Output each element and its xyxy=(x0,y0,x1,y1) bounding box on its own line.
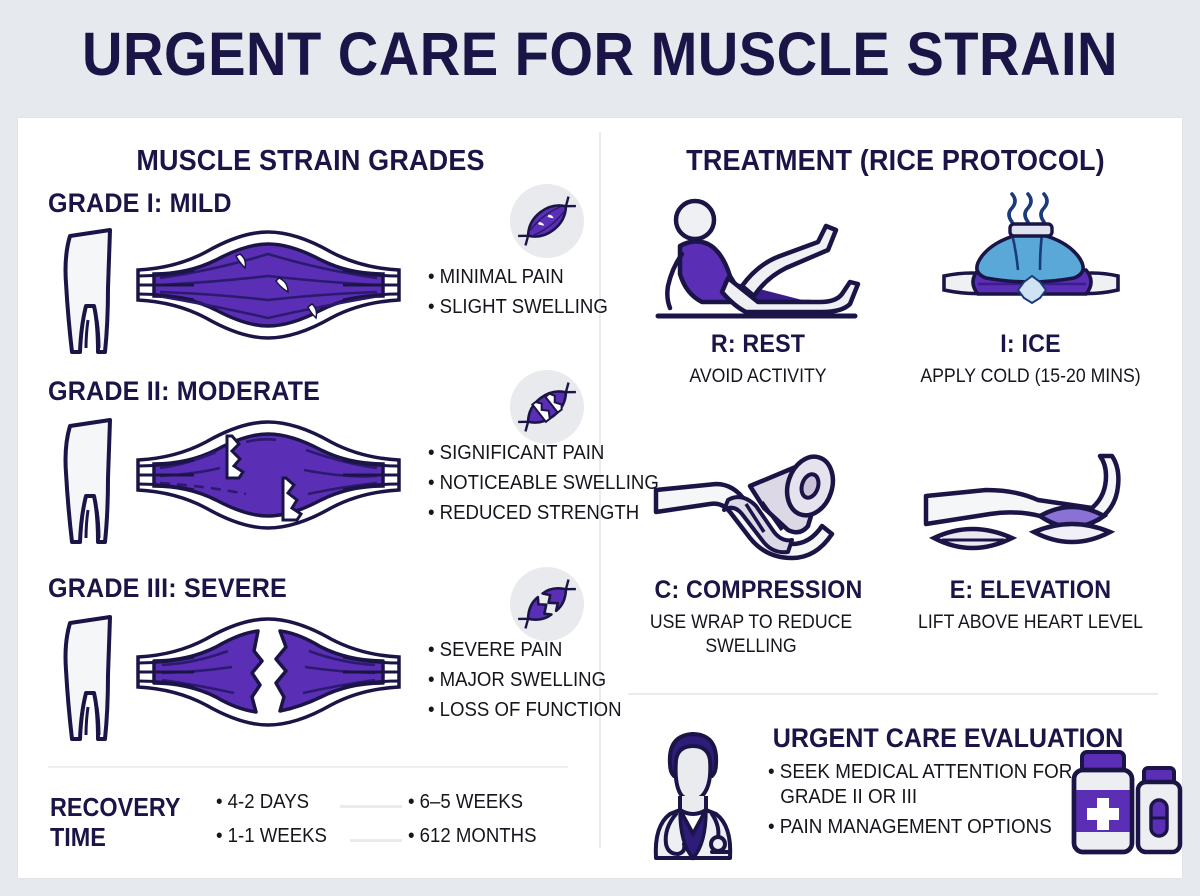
muscle-mild-icon xyxy=(510,184,584,258)
list-item: SEEK MEDICAL ATTENTION FOR GRADE II OR I… xyxy=(768,760,1078,810)
infographic-poster: URGENT CARE FOR MUSCLE STRAIN MUSCLE STR… xyxy=(0,0,1200,896)
resting-person-icon xyxy=(650,198,865,328)
grade-3-badge xyxy=(510,567,584,641)
list-item: REDUCED STRENGTH xyxy=(428,502,659,525)
rice-compression-title: C: COMPRESSION xyxy=(635,576,881,605)
recovery-time-grid: 4-2 DAYS 6–5 WEEKS 1-1 WEEKS 612 MONTHS xyxy=(216,791,591,859)
leg-silhouette-icon xyxy=(48,615,128,745)
list-item: SIGNIFICANT PAIN xyxy=(428,442,659,465)
content-card: MUSCLE STRAIN GRADES TREATMENT (RICE PRO… xyxy=(18,118,1182,878)
grade-3-symptoms: SEVERE PAIN MAJOR SWELLING LOSS OF FUNCT… xyxy=(428,639,636,729)
recovery-connector xyxy=(350,839,402,842)
left-column-heading: MUSCLE STRAIN GRADES xyxy=(57,145,564,178)
urgent-care-section: URGENT CARE EVALUATION SEEK MEDICAL ATTE… xyxy=(628,718,1168,868)
elevated-leg-pillow-icon xyxy=(920,454,1145,574)
rice-elevation-desc: LIFT ABOVE HEART LEVEL xyxy=(907,611,1153,635)
grade-2-badge xyxy=(510,370,584,444)
muscle-grade-2-icon xyxy=(136,420,401,530)
bandage-wrap-icon xyxy=(646,448,871,573)
recovery-item: 612 MONTHS xyxy=(408,825,536,848)
ice-pack-icon xyxy=(938,198,1123,328)
recovery-item: 6–5 WEEKS xyxy=(408,791,523,814)
grade-1-section: GRADE I: MILD xyxy=(48,188,598,368)
rice-step-rest: R: REST AVOID ACTIVITY xyxy=(628,198,888,388)
list-item: LOSS OF FUNCTION xyxy=(428,699,622,722)
recovery-row-2: 1-1 WEEKS 612 MONTHS xyxy=(216,825,591,859)
rice-ice-title: I: ICE xyxy=(907,330,1153,359)
list-item: PAIN MANAGEMENT OPTIONS xyxy=(768,815,1078,840)
recovery-row-1: 4-2 DAYS 6–5 WEEKS xyxy=(216,791,591,825)
muscle-grade-1-icon xyxy=(136,230,401,340)
rice-ice-desc: APPLY COLD (15-20 MINS) xyxy=(907,365,1153,389)
muscle-grade-3-icon xyxy=(136,617,401,727)
grade-3-section: GRADE III: SEVERE xyxy=(48,573,598,768)
rice-step-ice: I: ICE APPLY COLD (15-20 MINS) xyxy=(898,198,1163,388)
list-item: NOTICEABLE SWELLING xyxy=(428,472,659,495)
rice-compression-desc: USE WRAP TO REDUCE SWELLING xyxy=(635,611,868,659)
medicine-bottles-icon xyxy=(1068,748,1186,860)
rice-rest-desc: AVOID ACTIVITY xyxy=(637,365,879,389)
recovery-time-label: RECOVERY TIME xyxy=(50,792,180,852)
recovery-connector xyxy=(340,805,402,808)
urgent-care-divider xyxy=(628,693,1158,695)
right-column-heading: TREATMENT (RICE PROTOCOL) xyxy=(642,145,1149,178)
recovery-label-line-2: TIME xyxy=(50,822,180,852)
grade-2-title: GRADE II: MODERATE xyxy=(48,376,560,407)
grade-2-section: GRADE II: MODERATE xyxy=(48,376,598,571)
list-item: SLIGHT SWELLING xyxy=(428,296,608,319)
recovery-time-section: RECOVERY TIME 4-2 DAYS 6–5 WEEKS 1-1 WEE… xyxy=(48,786,588,866)
muscle-severe-icon xyxy=(510,567,584,641)
rice-step-compression: C: COMPRESSION USE WRAP TO REDUCE SWELLI… xyxy=(626,448,891,648)
list-item: MAJOR SWELLING xyxy=(428,669,622,692)
rice-elevation-title: E: ELEVATION xyxy=(907,576,1153,605)
rice-rest-title: R: REST xyxy=(637,330,879,359)
leg-silhouette-icon xyxy=(48,228,128,358)
list-item: SEVERE PAIN xyxy=(428,639,622,662)
rice-step-elevation: E: ELEVATION LIFT ABOVE HEART LEVEL xyxy=(898,448,1163,648)
grade-1-badge xyxy=(510,184,584,258)
list-item: MINIMAL PAIN xyxy=(428,266,608,289)
page-title: URGENT CARE FOR MUSCLE STRAIN xyxy=(48,22,1152,86)
leg-silhouette-icon xyxy=(48,418,128,548)
recovery-label-line-1: RECOVERY xyxy=(50,792,180,822)
recovery-item: 1-1 WEEKS xyxy=(216,825,327,848)
doctor-icon xyxy=(636,724,748,864)
grade-1-symptoms: MINIMAL PAIN SLIGHT SWELLING xyxy=(428,266,621,326)
muscle-moderate-icon xyxy=(510,370,584,444)
grade-3-title: GRADE III: SEVERE xyxy=(48,573,560,604)
grade-1-title: GRADE I: MILD xyxy=(48,188,560,219)
urgent-care-points: SEEK MEDICAL ATTENTION FOR GRADE II OR I… xyxy=(768,760,1098,845)
recovery-divider xyxy=(48,766,568,768)
recovery-item: 4-2 DAYS xyxy=(216,791,309,814)
